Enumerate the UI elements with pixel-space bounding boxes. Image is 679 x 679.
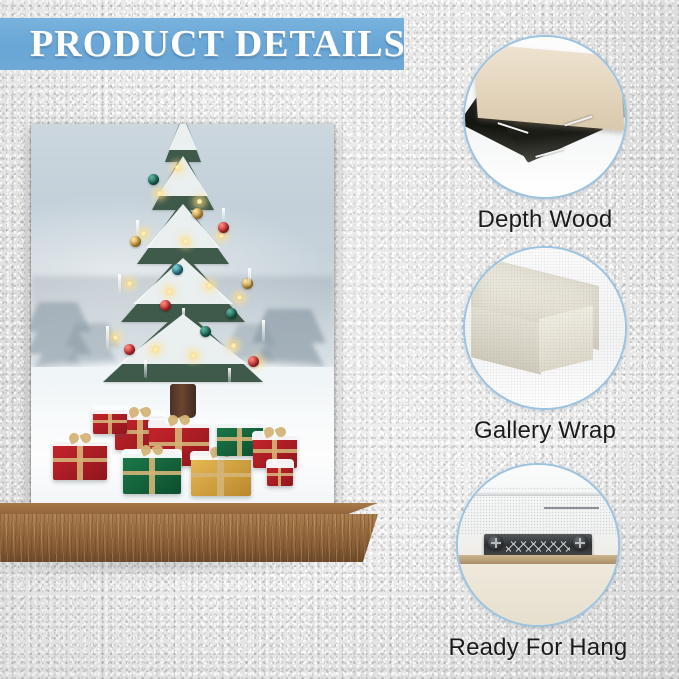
feature-depth-wood: Depth Wood bbox=[425, 35, 665, 234]
christmas-tree bbox=[78, 124, 288, 412]
gift-box bbox=[191, 456, 251, 496]
product-canvas-print bbox=[31, 124, 334, 503]
screw-icon bbox=[573, 535, 588, 550]
ready-for-hang-image bbox=[456, 463, 620, 627]
wooden-floating-shelf bbox=[0, 503, 378, 565]
tree-trunk bbox=[170, 384, 196, 418]
feature-label-gallery-wrap: Gallery Wrap bbox=[425, 417, 665, 445]
page-title: PRODUCT DETAILS bbox=[30, 25, 406, 63]
depth-wood-image bbox=[463, 35, 627, 199]
gift-box bbox=[93, 410, 127, 434]
shelf-shadow bbox=[0, 561, 352, 577]
shelf-front-face bbox=[0, 514, 378, 562]
gift-box bbox=[53, 442, 107, 480]
feature-label-depth-wood: Depth Wood bbox=[425, 206, 665, 234]
feature-ready-for-hang: Ready For Hang bbox=[418, 463, 658, 662]
feature-label-ready-for-hang: Ready For Hang bbox=[418, 634, 658, 662]
feature-gallery-wrap: Gallery Wrap bbox=[425, 246, 665, 445]
canvas-artwork bbox=[31, 124, 334, 503]
gift-box bbox=[123, 454, 181, 494]
gallery-wrap-image bbox=[463, 246, 627, 410]
header-banner: PRODUCT DETAILS bbox=[0, 18, 404, 70]
gift-box bbox=[267, 464, 293, 486]
